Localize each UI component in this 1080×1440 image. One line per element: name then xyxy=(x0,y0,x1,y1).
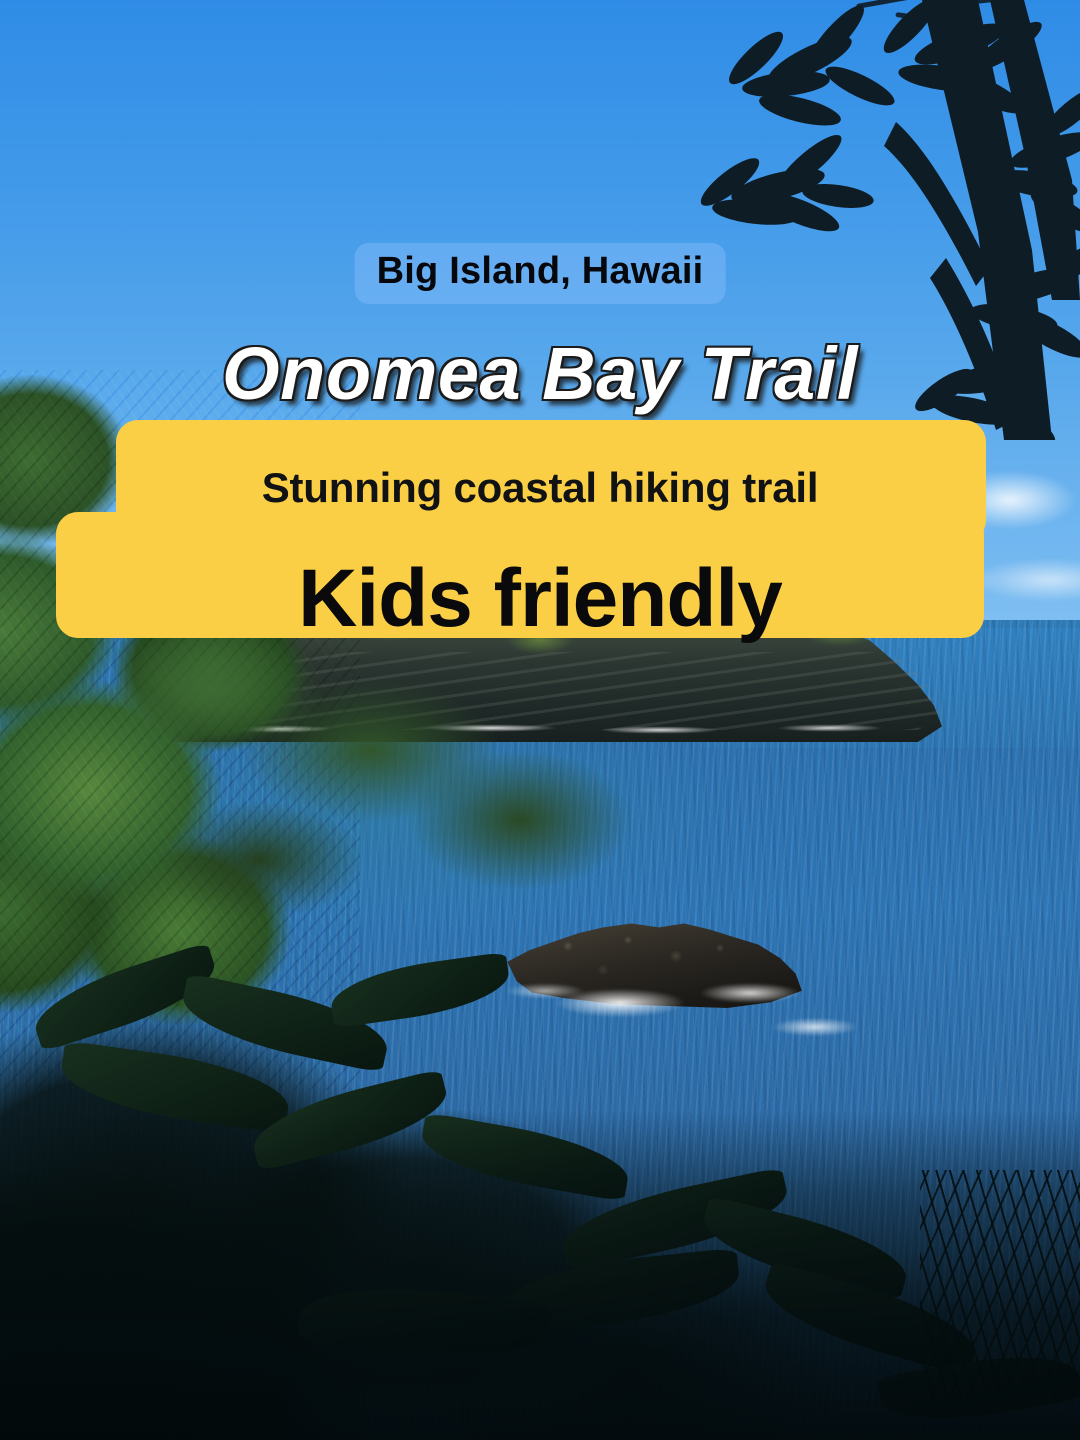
location-label: Big Island, Hawaii xyxy=(355,243,726,304)
bottom-shadow-gradient xyxy=(0,1110,1080,1440)
subtitle-text: Stunning coastal hiking trail xyxy=(262,465,819,511)
callout-text: Kids friendly xyxy=(298,552,782,646)
midground-vegetation xyxy=(120,630,640,970)
background-photo xyxy=(0,0,1080,1440)
page-title: Onomea Bay Trail xyxy=(222,333,858,416)
leaf xyxy=(327,952,512,1029)
social-travel-poster: Big Island, Hawaii Onomea Bay Trail Stun… xyxy=(0,0,1080,1440)
